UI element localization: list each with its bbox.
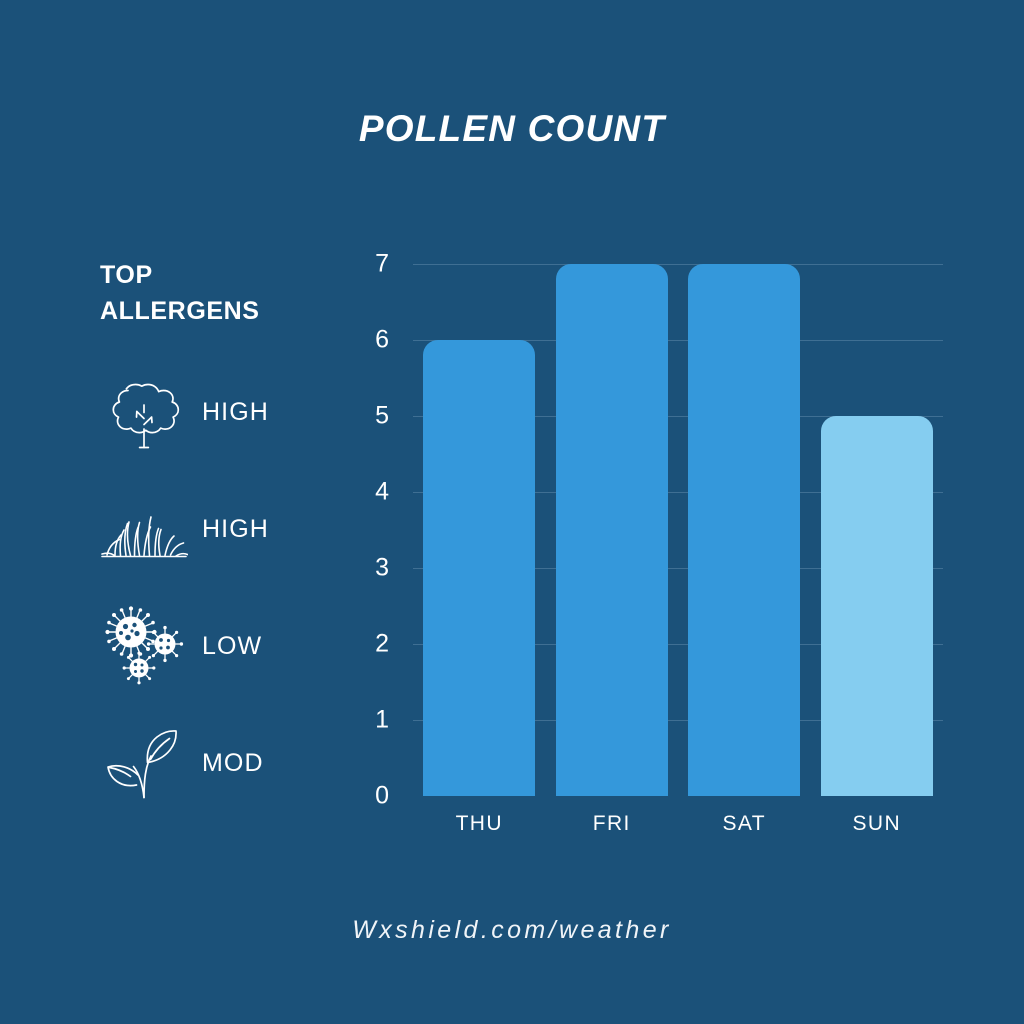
pollen-count-chart: 01234567 THUFRISATSUN: [370, 250, 970, 840]
bar-series: [413, 264, 943, 796]
bar-sat[interactable]: [688, 264, 800, 796]
footer-url: Wxshield.com/weather: [0, 916, 1024, 945]
y-axis-tick-label: 3: [329, 554, 389, 583]
y-axis-tick-label: 4: [329, 478, 389, 507]
y-axis-tick-label: 5: [329, 402, 389, 431]
y-axis-tick-label: 6: [329, 326, 389, 355]
grass-icon: [100, 490, 188, 568]
allergen-list: HIGH: [100, 371, 340, 804]
allergen-level-grass: HIGH: [202, 515, 269, 544]
allergen-level-tree: HIGH: [202, 398, 269, 427]
bar-column[interactable]: [556, 264, 668, 796]
x-axis-tick-label: THU: [423, 812, 535, 836]
y-axis-tick-label: 2: [329, 630, 389, 659]
bar-column[interactable]: [688, 264, 800, 796]
x-axis-tick-label: SAT: [688, 812, 800, 836]
y-axis-tick-label: 0: [329, 782, 389, 811]
tree-icon: [100, 373, 188, 451]
sidebar-heading: TOP ALLERGENS: [100, 258, 340, 329]
bar-column[interactable]: [821, 264, 933, 796]
allergen-row-grass: HIGH: [100, 488, 340, 570]
bar-fri[interactable]: [556, 264, 668, 796]
sidebar-heading-line2: ALLERGENS: [100, 294, 340, 330]
page-title: POLLEN COUNT: [0, 108, 1024, 150]
y-axis-tick-label: 1: [329, 706, 389, 735]
bar-sun[interactable]: [821, 416, 933, 796]
bar-column[interactable]: [423, 264, 535, 796]
allergen-row-ragweed: LOW: [100, 605, 340, 687]
bar-thu[interactable]: [423, 340, 535, 796]
top-allergens-panel: TOP ALLERGENS HI: [100, 258, 340, 839]
allergen-level-weed: MOD: [202, 749, 264, 778]
x-axis-tick-label: SUN: [821, 812, 933, 836]
allergen-row-weed: MOD: [100, 722, 340, 804]
pollen-count-poster: POLLEN COUNT TOP ALLERGENS: [0, 0, 1024, 1024]
y-axis-tick-label: 7: [329, 250, 389, 279]
x-axis-tick-label: FRI: [556, 812, 668, 836]
sidebar-heading-line1: TOP: [100, 258, 340, 294]
allergen-level-ragweed: LOW: [202, 632, 262, 661]
allergen-row-tree: HIGH: [100, 371, 340, 453]
ragweed-spores-icon: [100, 607, 188, 685]
chart-plot-area: 01234567 THUFRISATSUN: [413, 264, 943, 796]
weed-sprout-icon: [100, 724, 188, 802]
